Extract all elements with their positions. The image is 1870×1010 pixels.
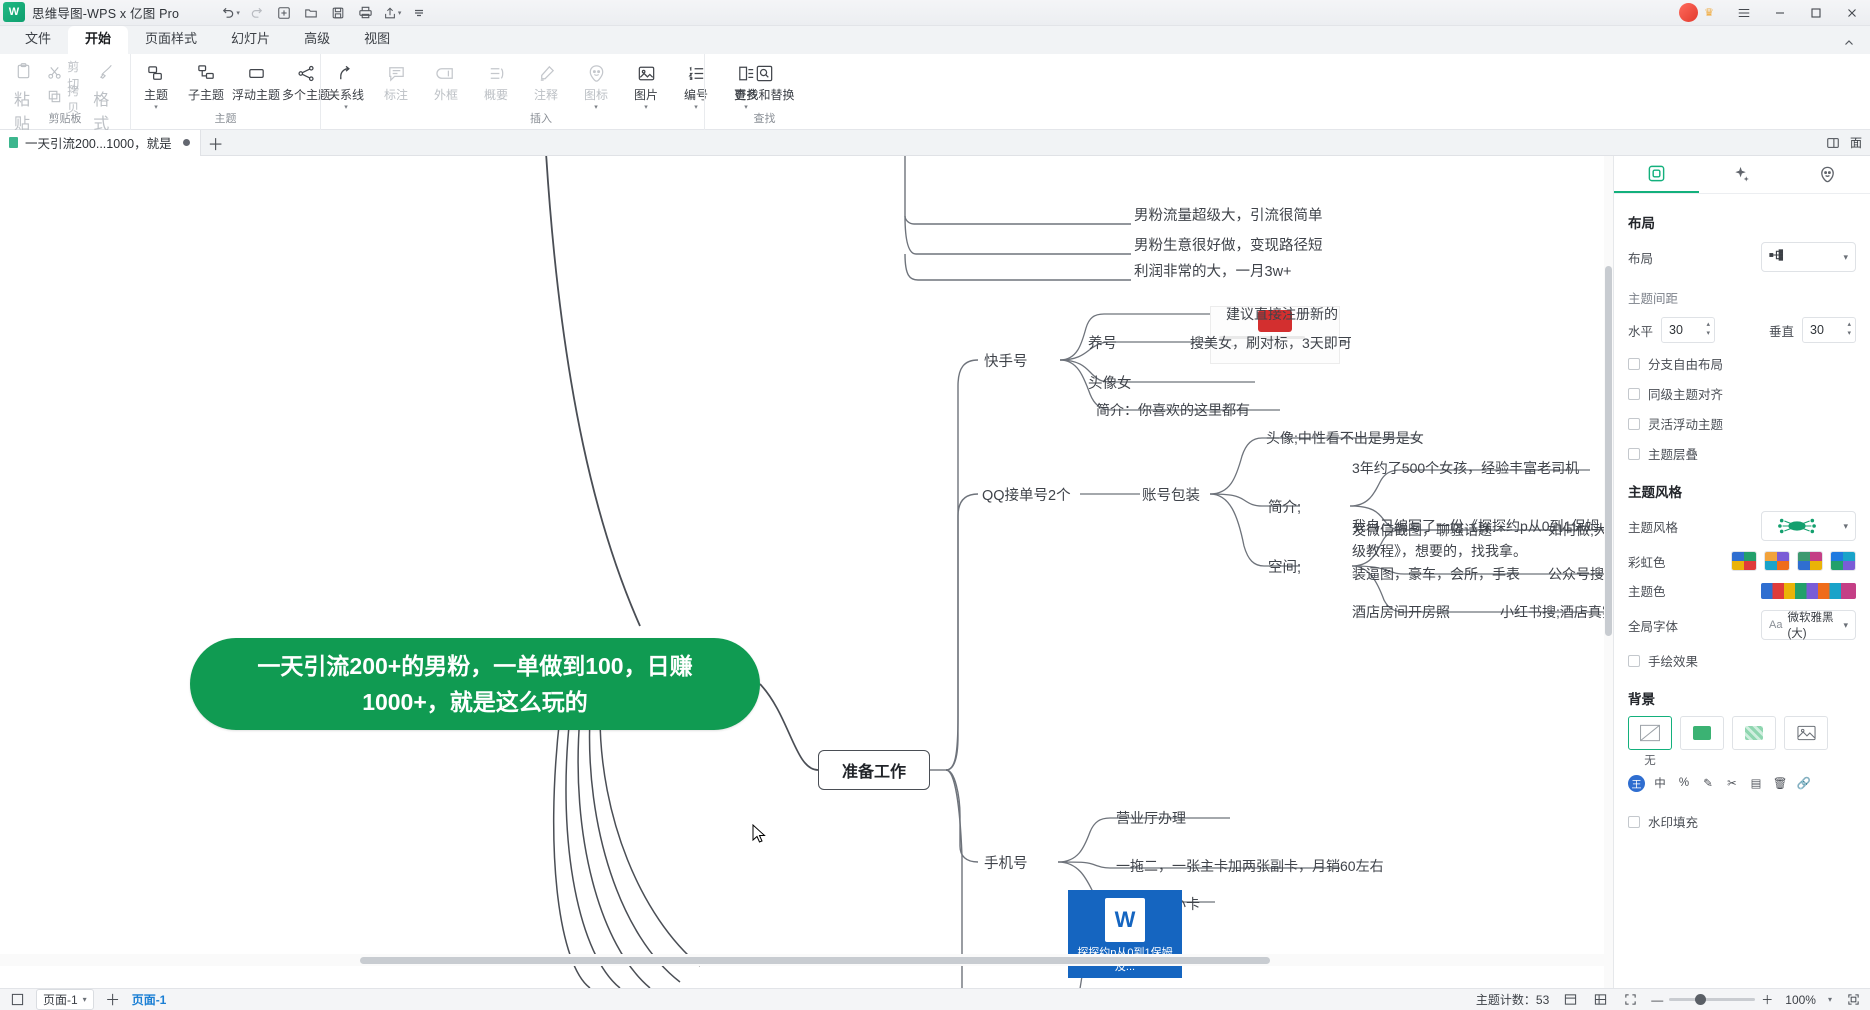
rainbow-swatch-3[interactable]	[1797, 551, 1823, 571]
rainbow-color-label: 彩虹色	[1628, 552, 1666, 571]
mindmap-node-space-2[interactable]: 装逼图，豪车，会所，手表	[1352, 564, 1520, 584]
rainbow-swatches	[1731, 551, 1856, 571]
sticker-icon	[586, 61, 607, 85]
tab-view[interactable]: 视图	[347, 26, 407, 54]
save-icon[interactable]	[325, 2, 351, 24]
app-logo: W	[3, 2, 25, 22]
bg-image-tile[interactable]	[1784, 716, 1828, 750]
app-logo-text: W	[9, 6, 19, 18]
boundary-icon	[436, 61, 457, 85]
topic-count-label: 主题计数：	[1476, 993, 1536, 1007]
account-area[interactable]: ♛	[1679, 3, 1714, 22]
rainbow-color-row: 彩虹色	[1628, 551, 1856, 571]
word-document-icon: W	[1105, 898, 1145, 942]
checkbox-align-siblings-label: 同级主题对齐	[1648, 384, 1723, 403]
spacing-row: 水平 30 ▴▾ 垂直 30 ▴▾	[1628, 317, 1856, 343]
chevron-down-icon[interactable]: ▾	[1843, 521, 1848, 532]
zoom-slider-track[interactable]	[1669, 998, 1755, 1001]
rainbow-swatch-1[interactable]	[1731, 551, 1757, 571]
background-section-heading: 背景	[1628, 688, 1856, 708]
summary-icon	[486, 61, 507, 85]
undo-icon[interactable]: ▾	[217, 2, 243, 24]
image-button[interactable]: 图片 ▾	[621, 58, 671, 111]
theme-color-label: 主题色	[1628, 581, 1666, 600]
undo-caret-icon[interactable]: ▾	[236, 9, 240, 17]
status-bar-left: 页面-1 ▾ ＋ 页面-1	[0, 989, 166, 1010]
mindmap-canvas[interactable]: 一天引流200+的男粉，一单做到100，日赚1000+，就是这么玩的 准备工作 …	[0, 156, 1613, 988]
horizontal-spacing-label: 水平	[1628, 321, 1653, 340]
mindmap-node-phone-1[interactable]: 营业厅办理	[1116, 808, 1186, 828]
document-tab[interactable]: 一天引流200...1000，就是	[0, 130, 201, 156]
boundary-label: 外框	[434, 88, 458, 103]
mindmap-root-node[interactable]: 一天引流200+的男粉，一单做到100，日赚1000+，就是这么玩的	[190, 638, 760, 730]
global-font-select[interactable]: Aa 微软雅黑 (大) ▾	[1761, 610, 1856, 640]
image-caret-icon[interactable]: ▾	[644, 104, 648, 111]
mindmap-node-phone-number[interactable]: 手机号	[984, 852, 1028, 873]
split-view-icon[interactable]	[1826, 136, 1840, 150]
open-folder-icon[interactable]	[298, 2, 324, 24]
topic-count: 主题计数：53	[1476, 991, 1549, 1008]
checkbox-handdrawn-label: 手绘效果	[1648, 651, 1698, 670]
horizontal-scrollbar-thumb[interactable]	[360, 957, 1270, 964]
zoom-slider-knob[interactable]	[1695, 994, 1706, 1005]
relation-line-label: 关系线	[328, 88, 364, 103]
find-replace-icon	[754, 61, 775, 85]
floating-topic-label: 浮动主题	[232, 88, 280, 103]
topic-count-value: 53	[1536, 993, 1549, 1007]
horizontal-spacing-stepper[interactable]: ▴▾	[1707, 321, 1711, 337]
bg-frame-icon[interactable]: ▤	[1747, 774, 1765, 792]
subtopic-label: 子主题	[188, 88, 224, 103]
document-tab-label: 一天引流200...1000，就是	[25, 133, 172, 152]
relation-line-caret-icon[interactable]: ▾	[344, 104, 348, 111]
group-label-find: 查找	[705, 112, 824, 126]
background-mini-toolbar: 王 中 % ✎ ✂ ▤ 🗑 🔗	[1628, 774, 1856, 792]
mindmap-node-account-packaging[interactable]: 账号包装	[1142, 484, 1200, 505]
mindmap-node-space-1[interactable]: 发微信截图，聊骚话题	[1352, 520, 1492, 540]
more-quick-access-icon[interactable]	[406, 2, 432, 24]
bg-link-icon[interactable]: 🔗	[1795, 774, 1813, 792]
vertical-spacing-label: 垂直	[1769, 321, 1794, 340]
status-bar: 页面-1 ▾ ＋ 页面-1 主题计数：53 — ＋ 1	[0, 988, 1870, 1010]
format-side-panel: 布局 布局 ▾ 主题间距	[1613, 156, 1870, 988]
ribbon-toolbar: 粘贴 ▾ 剪切	[0, 54, 1870, 130]
find-replace-button[interactable]: 查找和替换	[726, 58, 802, 103]
window-title: 思维导图-WPS x 亿图 Pro	[32, 3, 179, 22]
comment-button[interactable]: 注释	[521, 58, 571, 103]
format-painter-icon	[98, 62, 117, 86]
menubar-right-icons	[1836, 32, 1870, 54]
mindmap-node-top-3[interactable]: 利润非常的大，一月3w+	[1134, 260, 1292, 281]
mindmap-node-bio-kuaishou[interactable]: 简介：你喜欢的这里都有	[1096, 400, 1250, 420]
bg-cut-icon[interactable]: ✂	[1723, 774, 1741, 792]
cut-icon	[47, 65, 62, 85]
zoom-in-button[interactable]: ＋	[1761, 991, 1773, 1008]
vip-crown-icon[interactable]: ♛	[1704, 6, 1714, 19]
zoom-out-button[interactable]: —	[1651, 993, 1663, 1007]
tab-advanced[interactable]: 高级	[287, 26, 347, 54]
mindmap-node-kuaishou[interactable]: 快手号	[984, 350, 1028, 371]
mindmap-node-avatar-female[interactable]: 头像女	[1088, 372, 1132, 393]
boundary-button[interactable]: 外框	[421, 58, 471, 103]
share-caret-icon[interactable]: ▾	[398, 9, 402, 17]
comment-label: 注释	[534, 88, 558, 103]
style-section-heading: 主题风格	[1628, 481, 1856, 501]
checkbox-free-branch-layout-box[interactable]	[1628, 358, 1640, 370]
vertical-spacing-value: 30	[1810, 323, 1824, 337]
rainbow-swatch-2[interactable]	[1764, 551, 1790, 571]
fit-page-icon[interactable]	[1621, 991, 1639, 1009]
find-replace-label: 查找和替换	[734, 88, 794, 103]
global-font-label: 全局字体	[1628, 616, 1678, 635]
checkbox-topic-overlap-box[interactable]	[1628, 448, 1640, 460]
topic-button[interactable]: 主题 ▾	[131, 58, 181, 111]
title-bar: W 思维导图-WPS x 亿图 Pro ▾	[0, 0, 1870, 26]
new-document-tab-button[interactable]: ＋	[201, 130, 231, 156]
vertical-spacing-input[interactable]: 30 ▴▾	[1802, 317, 1856, 343]
checkbox-topic-overlap[interactable]: 主题层叠	[1628, 444, 1856, 463]
sticker-caret-icon[interactable]: ▾	[594, 104, 598, 111]
new-document-icon[interactable]	[271, 2, 297, 24]
summary-label: 概要	[484, 88, 508, 103]
outline-view-icon[interactable]	[1561, 991, 1579, 1009]
theme-style-label: 主题风格	[1628, 517, 1678, 536]
relation-line-button[interactable]: 关系线 ▾	[321, 58, 371, 111]
page-selector-caret-icon[interactable]: ▾	[83, 995, 87, 1004]
sticker-button[interactable]: 图标 ▾	[571, 58, 621, 111]
menu-bar: 文件 开始 页面样式 幻灯片 高级 视图	[0, 26, 1870, 54]
topic-caret-icon[interactable]: ▾	[154, 104, 158, 111]
group-label-clipboard: 剪贴板	[0, 112, 130, 126]
spacing-heading: 主题间距	[1628, 288, 1856, 307]
collapse-ribbon-icon[interactable]	[1836, 32, 1862, 54]
page-selector[interactable]: 页面-1 ▾	[36, 989, 94, 1010]
callout-icon	[386, 61, 407, 85]
ai-tab[interactable]	[1699, 156, 1784, 193]
checkbox-flexible-floating[interactable]: 灵活浮动主题	[1628, 414, 1856, 433]
image-icon	[636, 61, 657, 85]
paste-icon	[14, 62, 33, 86]
horizontal-spacing-group: 水平 30 ▴▾	[1628, 317, 1715, 343]
mouse-cursor	[752, 824, 766, 844]
bg-none-tile[interactable]	[1628, 716, 1672, 750]
floating-topic-button[interactable]: 浮动主题	[231, 58, 281, 103]
checkbox-handdrawn[interactable]: 手绘效果	[1628, 651, 1856, 670]
checkbox-free-branch-layout[interactable]: 分支自由布局	[1628, 354, 1856, 373]
quick-access-toolbar: ▾	[217, 2, 432, 24]
bg-center-icon[interactable]: 中	[1651, 774, 1669, 792]
org-chart-icon	[1769, 247, 1795, 268]
mindmap-node-qq-accounts[interactable]: QQ接单号2个	[982, 484, 1071, 505]
copy-label: 拷贝	[67, 82, 79, 116]
vertical-spacing-stepper[interactable]: ▴▾	[1847, 321, 1851, 337]
bg-percent-icon[interactable]: %	[1675, 774, 1693, 792]
zoom-level[interactable]: 100%	[1785, 993, 1816, 1007]
share-icon[interactable]: ▾	[379, 2, 405, 24]
background-tiles: 无	[1628, 716, 1856, 768]
maximize-button[interactable]	[1798, 0, 1834, 26]
zoom-slider[interactable]: — ＋	[1651, 991, 1773, 1008]
vertical-scrollbar[interactable]	[1604, 156, 1613, 988]
theme-style-select[interactable]: ▾	[1761, 511, 1856, 541]
theme-color-row: 主题色	[1628, 581, 1856, 600]
mindmap-node-preparation[interactable]: 准备工作	[818, 750, 930, 790]
tab-slideshow[interactable]: 幻灯片	[214, 26, 287, 54]
bg-delete-icon[interactable]: 🗑	[1771, 774, 1789, 792]
layout-row: 布局 ▾	[1628, 242, 1856, 272]
side-panel-body: 布局 布局 ▾ 主题间距	[1614, 194, 1870, 988]
paste-label: 粘贴	[14, 86, 33, 134]
active-page-label[interactable]: 页面-1	[132, 991, 167, 1008]
tab-page-style[interactable]: 页面样式	[128, 26, 214, 54]
checkbox-handdrawn-box[interactable]	[1628, 655, 1640, 667]
bg-watermark-badge[interactable]: 王	[1628, 775, 1645, 792]
vertical-spacing-group: 垂直 30 ▴▾	[1769, 317, 1856, 343]
document-tab-strip: 一天引流200...1000，就是 ＋ 面	[0, 130, 1870, 156]
subtopic-button[interactable]: 子主题	[181, 58, 231, 103]
relation-line-icon	[336, 61, 357, 85]
multi-topic-icon	[296, 61, 317, 85]
checkbox-watermark-fill[interactable]: 水印填充	[1628, 812, 1856, 831]
global-font-row: 全局字体 Aa 微软雅黑 (大) ▾	[1628, 610, 1856, 640]
chevron-down-icon[interactable]: ▾	[1843, 252, 1848, 263]
comment-icon	[536, 61, 557, 85]
theme-style-row: 主题风格 ▾	[1628, 511, 1856, 541]
theme-color-gradient[interactable]	[1761, 583, 1856, 599]
grid-view-icon[interactable]	[1591, 991, 1609, 1009]
minimize-button[interactable]	[1762, 0, 1798, 26]
global-font-value: 微软雅黑 (大)	[1787, 609, 1838, 641]
checkbox-align-siblings-box[interactable]	[1628, 388, 1640, 400]
theme-preview-icon	[1769, 517, 1825, 535]
doctabs-right-controls: 面	[1826, 134, 1870, 151]
mindmap-node-space[interactable]: 空间;	[1268, 556, 1301, 577]
checkbox-flexible-floating-label: 灵活浮动主题	[1648, 414, 1723, 433]
ribbon-group-insert: 关系线 ▾ 标注 外框	[320, 54, 704, 130]
chevron-down-icon[interactable]: ▾	[1843, 620, 1848, 631]
floating-topic-icon	[246, 61, 267, 85]
page-selector-label: 页面-1	[43, 991, 78, 1008]
tab-file[interactable]: 文件	[8, 26, 68, 54]
bg-pattern-tile[interactable]	[1732, 716, 1776, 750]
callout-button[interactable]: 标注	[371, 58, 421, 103]
sticker-tab[interactable]	[1785, 156, 1870, 193]
sticker-label: 图标	[584, 88, 608, 103]
mindmap-node-bio-detail-1[interactable]: 3年约了500个女孩，经验丰富老司机	[1352, 458, 1579, 478]
bg-color-tile[interactable]	[1680, 716, 1724, 750]
mindmap-node-raise-account[interactable]: 养号	[1088, 332, 1117, 353]
redo-icon[interactable]	[244, 2, 270, 24]
checkbox-flexible-floating-box[interactable]	[1628, 418, 1640, 430]
titlebar-right: ♛	[1679, 0, 1870, 26]
avatar[interactable]	[1679, 3, 1698, 22]
print-icon[interactable]	[352, 2, 378, 24]
mindmap-node-phone-2[interactable]: 一拖二，一张主卡加两张副卡，月销60左右	[1116, 856, 1384, 876]
panel-toggle-label[interactable]: 面	[1850, 134, 1862, 151]
mindmap-node-avatar-neutral[interactable]: 头像;中性看不出是男是女	[1266, 428, 1424, 448]
layout-section-heading: 布局	[1628, 212, 1856, 232]
checkbox-free-branch-layout-label: 分支自由布局	[1648, 354, 1723, 373]
mindmap-node-space-3[interactable]: 酒店房间开房照	[1352, 602, 1450, 622]
mindmap-node-top-1[interactable]: 男粉流量超级大，引流很简单	[1134, 204, 1323, 225]
add-page-button[interactable]: ＋	[104, 991, 122, 1009]
layout-field-label: 布局	[1628, 248, 1653, 267]
topic-label: 主题	[144, 88, 168, 103]
horizontal-spacing-value: 30	[1669, 323, 1683, 337]
ribbon-group-clipboard: 粘贴 ▾ 剪切	[0, 54, 130, 130]
font-prefix-icon: Aa	[1769, 619, 1782, 631]
checkbox-watermark-fill-label: 水印填充	[1648, 812, 1698, 831]
subtopic-icon	[196, 61, 217, 85]
vertical-scrollbar-thumb[interactable]	[1605, 266, 1612, 636]
unsaved-indicator-icon	[183, 139, 190, 146]
checkbox-topic-overlap-label: 主题层叠	[1648, 444, 1698, 463]
copy-icon	[47, 89, 62, 109]
mindmap-node-bio[interactable]: 简介;	[1268, 496, 1301, 517]
document-file-icon	[9, 137, 18, 148]
image-label: 图片	[634, 88, 658, 103]
close-button[interactable]	[1834, 0, 1870, 26]
fullscreen-icon[interactable]	[1844, 991, 1862, 1009]
mindmap-node-register-new[interactable]: 建议直接注册新的	[1226, 304, 1338, 324]
menu-hamburger-button[interactable]	[1726, 0, 1762, 26]
checkbox-align-siblings[interactable]: 同级主题对齐	[1628, 384, 1856, 403]
mindmap-node-raise-account-detail[interactable]: 搜美女，刷对标，3天即可	[1190, 333, 1352, 353]
layout-select[interactable]: ▾	[1761, 242, 1856, 272]
mindmap-node-top-2[interactable]: 男粉生意很好做，变现路径短	[1134, 234, 1323, 255]
group-label-insert: 插入	[441, 112, 641, 126]
horizontal-spacing-input[interactable]: 30 ▴▾	[1661, 317, 1715, 343]
tab-home[interactable]: 开始	[68, 26, 128, 54]
numbering-caret-icon[interactable]: ▾	[694, 104, 698, 111]
copy-button[interactable]: 拷贝	[41, 87, 85, 111]
rainbow-swatch-4[interactable]	[1830, 551, 1856, 571]
topic-icon	[146, 61, 167, 85]
ribbon-group-find: 查找和替换 查找	[704, 54, 824, 130]
zoom-caret-icon[interactable]: ▾	[1828, 995, 1832, 1004]
callout-label: 标注	[384, 88, 408, 103]
bg-pen-icon[interactable]: ✎	[1699, 774, 1717, 792]
layout-tab[interactable]	[1614, 156, 1699, 193]
summary-button[interactable]: 概要	[471, 58, 521, 103]
ribbon-group-topic: 主题 ▾ 子主题 浮动主题	[130, 54, 320, 130]
side-panel-tabs	[1614, 156, 1870, 194]
checkbox-watermark-fill-box[interactable]	[1628, 816, 1640, 828]
page-view-icon[interactable]	[8, 991, 26, 1009]
mindmap-node-space-3-note[interactable]: 小红书搜;酒店真实照片	[1500, 602, 1613, 622]
group-label-topic: 主题	[131, 112, 320, 126]
horizontal-scrollbar[interactable]	[0, 954, 1613, 966]
bg-none-label: 无	[1628, 752, 1672, 768]
status-bar-right: 主题计数：53 — ＋ 100% ▾	[1476, 991, 1870, 1009]
